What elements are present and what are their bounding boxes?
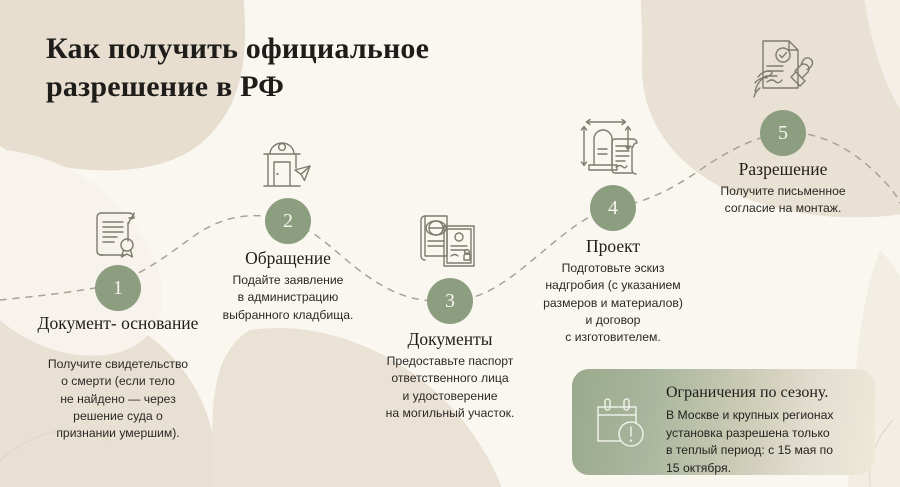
page-title-line-1: Как получить официальное	[46, 30, 476, 68]
step-number: 1	[113, 278, 123, 298]
infographic-canvas: 1 Документ- основание Получите свидетель…	[0, 0, 900, 487]
building-entrance-send-icon	[254, 134, 322, 201]
season-restriction-card: Ограничения по сезону. В Москве и крупны…	[572, 369, 875, 475]
step-number: 2	[283, 211, 293, 231]
step-description-3: Предоставьте паспорт ответственного лица…	[345, 353, 555, 422]
approved-document-stamp-icon	[745, 33, 821, 106]
season-restriction-title: Ограничения по сезону.	[666, 383, 828, 402]
headstone-blueprint-scroll-icon	[575, 113, 651, 190]
step-title-2: Обращение	[245, 248, 331, 269]
page-title: Как получить официальное разрешение в РФ	[46, 30, 476, 107]
step-description-2: Подайте заявление в администрацию выбран…	[188, 272, 388, 324]
step-description-5: Получите письменное согласие на монтаж.	[683, 183, 883, 218]
season-restriction-body: В Москве и крупных регионах установка ра…	[666, 407, 871, 475]
step-description-4: Подготовьте эскиз надгробия (с указанием…	[503, 260, 723, 347]
passport-id-card-icon	[415, 208, 485, 279]
step-badge-3: 3	[427, 278, 473, 324]
step-title-4: Проект	[586, 236, 640, 257]
step-badge-1: 1	[95, 265, 141, 311]
step-title-3: Документы	[407, 329, 492, 350]
step-badge-5: 5	[760, 110, 806, 156]
step-number: 5	[778, 123, 788, 143]
step-badge-2: 2	[265, 198, 311, 244]
step-badge-4: 4	[590, 185, 636, 231]
page-title-line-2: разрешение в РФ	[46, 68, 476, 106]
step-description-1: Получите свидетельство о смерти (если те…	[18, 356, 218, 443]
step-number: 3	[445, 291, 455, 311]
certificate-document-icon	[87, 203, 149, 270]
step-number: 4	[608, 198, 618, 218]
step-title-5: Разрешение	[739, 159, 828, 180]
calendar-alert-icon	[590, 393, 650, 458]
step-title-1: Документ- основание	[38, 313, 199, 334]
